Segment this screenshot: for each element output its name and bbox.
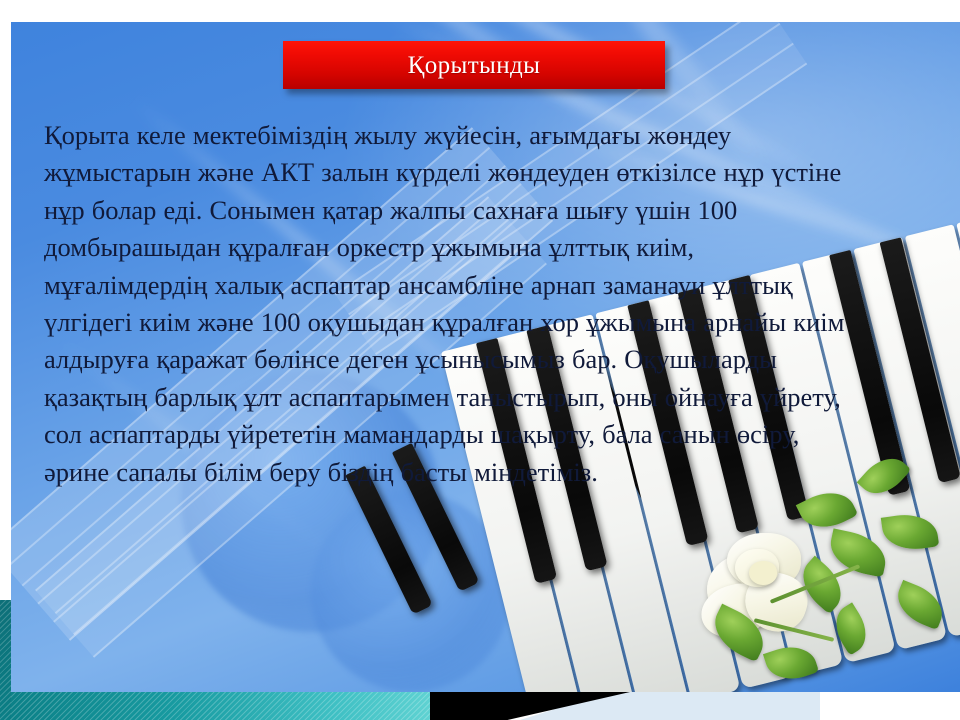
green-leaves [827,602,876,655]
green-leaves [857,448,912,504]
slide-title-banner: Қорытынды [283,41,665,89]
green-leaves [763,639,819,686]
presentation-slide: Қорытынды Қорыта келе мектебіміздің жылу… [0,0,960,720]
slide-body-text: Қорыта келе мектебіміздің жылу жүйесін, … [44,117,860,491]
teal-stripe-band [0,692,430,720]
teal-left-edge [0,600,11,720]
green-leaves [881,510,939,553]
green-leaves [754,618,835,642]
green-leaves [890,580,949,630]
page-title: Қорытынды [408,53,541,78]
green-leaves [826,528,891,577]
bokeh-disc [311,492,511,692]
